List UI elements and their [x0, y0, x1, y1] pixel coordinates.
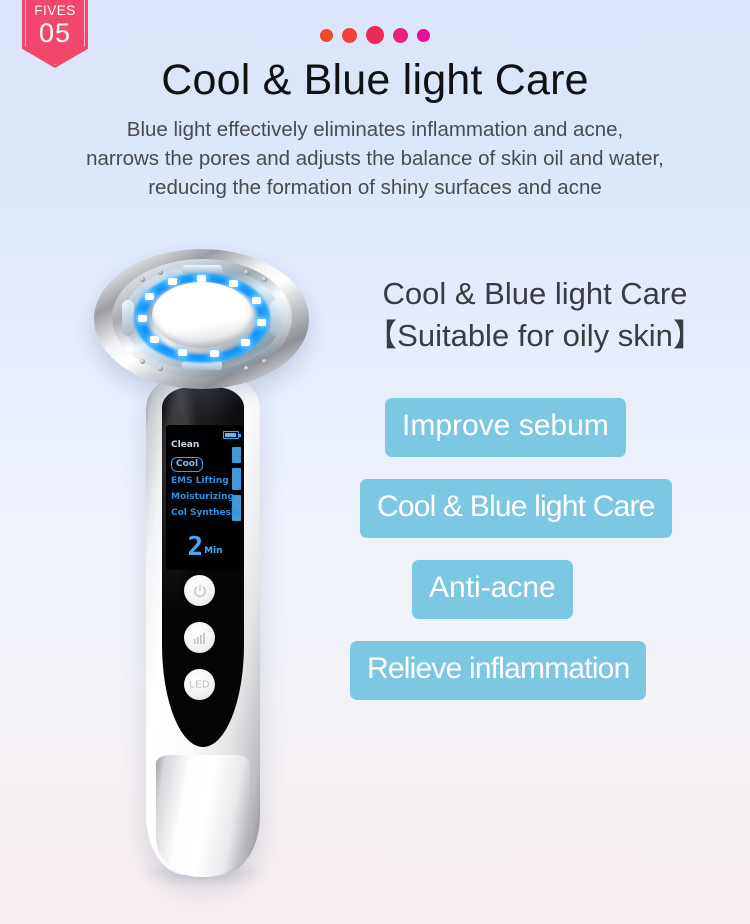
lcd-timer-unit: Min — [204, 546, 222, 556]
head-screw-4 — [262, 277, 267, 282]
feature-pill-cool-blue-light-care[interactable]: Cool & Blue light Care — [360, 479, 672, 538]
power-button[interactable] — [184, 575, 215, 606]
dot-2-icon — [342, 28, 357, 43]
led-dot-7 — [178, 349, 187, 356]
device-illustration: Clean Cool EMS Lifting Moisturizing Col … — [78, 235, 328, 885]
led-dot-8 — [150, 336, 159, 343]
pill-row-2: Cool & Blue light Care — [330, 479, 750, 538]
device-button-group: LED — [184, 575, 224, 716]
description-line-2: narrows the pores and adjusts the balanc… — [0, 144, 750, 173]
lcd-timer-value: 2 — [187, 532, 203, 562]
dot-3-icon — [366, 26, 384, 44]
led-dot-9 — [138, 315, 147, 322]
device-handle-base — [156, 755, 250, 877]
lcd-menu: Clean Cool EMS Lifting Moisturizing Col … — [171, 437, 241, 521]
led-dot-6 — [210, 350, 219, 357]
feature-pill-list: Improve sebum Cool & Blue light Care Ant… — [330, 398, 750, 722]
lcd-menu-item-clean: Clean — [171, 437, 241, 453]
dot-4-icon — [393, 28, 408, 43]
power-icon — [192, 583, 207, 598]
led-dot-3 — [252, 297, 261, 304]
led-button[interactable]: LED — [184, 669, 215, 700]
feature-pill-anti-acne[interactable]: Anti-acne — [412, 560, 573, 619]
feature-pill-improve-sebum[interactable]: Improve sebum — [385, 398, 626, 457]
right-title-line1: Cool & Blue light Care — [330, 273, 740, 315]
description-line-1: Blue light effectively eliminates inflam… — [0, 115, 750, 144]
page-title: Cool & Blue light Care — [0, 56, 750, 105]
led-dot-5 — [241, 339, 250, 346]
lcd-menu-item-cool: Cool — [171, 457, 203, 472]
page-description: Blue light effectively eliminates inflam… — [0, 115, 750, 202]
badge-word: FIVES — [22, 3, 88, 18]
dot-5-icon — [417, 29, 430, 42]
led-dot-11 — [168, 278, 177, 285]
led-button-label: LED — [184, 679, 215, 690]
head-screw-8 — [262, 359, 267, 364]
lcd-menu-item-moisturizing: Moisturizing — [171, 489, 241, 505]
head-treatment-plate — [152, 282, 252, 348]
right-title-line2: 【Suitable for oily skin】 — [330, 315, 740, 357]
signal-bars-icon — [193, 631, 207, 645]
led-dot-4 — [257, 319, 266, 326]
right-column: Cool & Blue light Care 【Suitable for oil… — [330, 273, 740, 357]
head-screw-6 — [158, 366, 163, 371]
lcd-menu-item-col-synthesis: Col Synthesis — [171, 505, 241, 521]
head-screw-7 — [244, 366, 249, 371]
head-screw-1 — [140, 277, 145, 282]
led-dot-10 — [145, 293, 154, 300]
device-lcd-screen: Clean Cool EMS Lifting Moisturizing Col … — [166, 425, 244, 570]
dot-1-icon — [320, 29, 333, 42]
pill-row-4: Relieve inflammation — [330, 641, 750, 700]
led-dot-1 — [197, 275, 206, 282]
pill-row-3: Anti-acne — [330, 560, 750, 619]
head-screw-5 — [140, 359, 145, 364]
intensity-button[interactable] — [184, 622, 215, 653]
lcd-timer: 2Min — [166, 532, 244, 562]
feature-pill-relieve-inflammation[interactable]: Relieve inflammation — [350, 641, 646, 700]
product-feature-page: FIVES 05 Cool & Blue light Care Blue lig… — [0, 0, 750, 924]
lcd-menu-item-ems-lifting: EMS Lifting — [171, 473, 241, 489]
led-dot-2 — [229, 280, 238, 287]
description-line-3: reducing the formation of shiny surfaces… — [0, 173, 750, 202]
device-head — [78, 235, 328, 420]
pill-row-1: Improve sebum — [330, 398, 750, 457]
decorative-dots-row — [0, 26, 750, 44]
